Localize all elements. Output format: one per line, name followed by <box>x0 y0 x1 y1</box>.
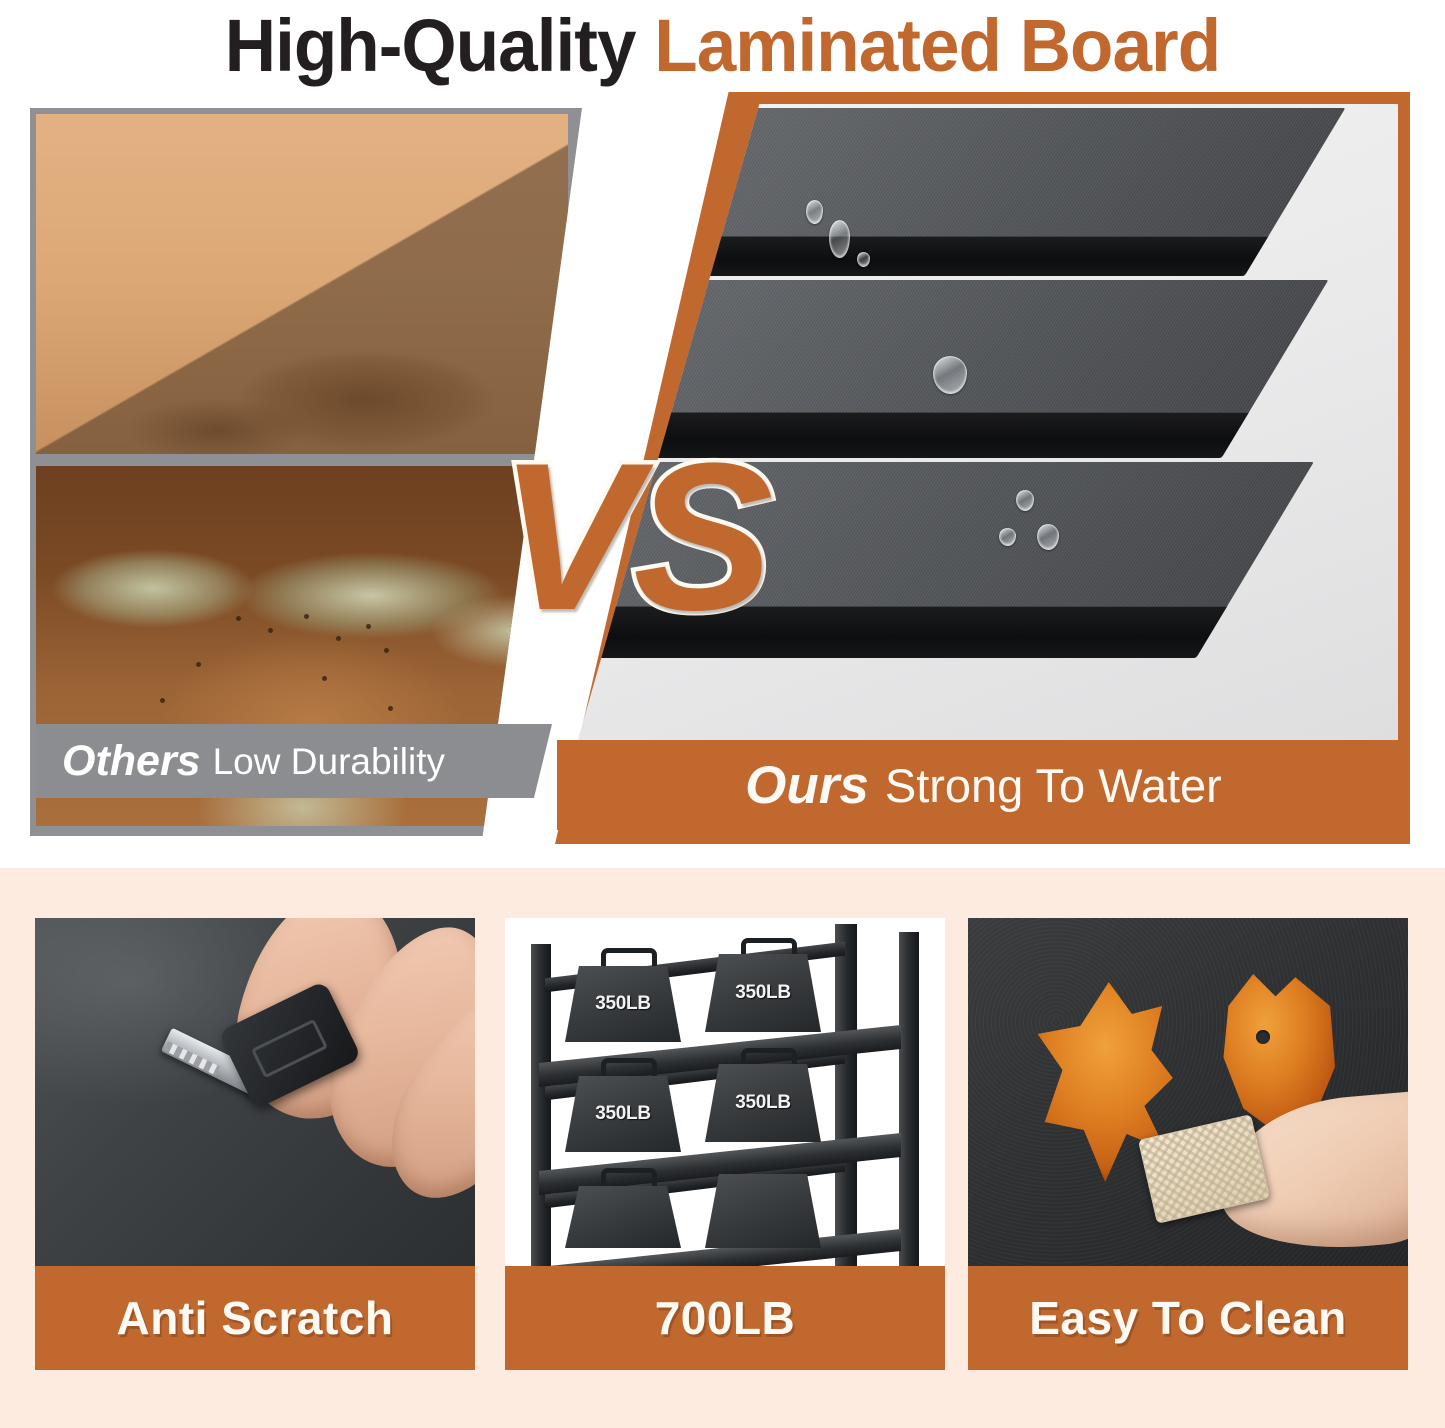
weight-block: 350LB <box>705 1064 821 1142</box>
feature-card-capacity: 350LB 350LB 350LB 350LB 700LB <box>505 918 945 1370</box>
rack-post <box>835 924 857 1266</box>
feature-photo-easy-clean <box>968 918 1408 1266</box>
rack-post <box>531 944 551 1266</box>
feature-label-anti-scratch: Anti Scratch <box>35 1266 475 1370</box>
feature-label-text: Anti Scratch <box>117 1295 394 1341</box>
feature-label-text: Easy To Clean <box>1029 1295 1347 1341</box>
weight-label: 350LB <box>735 1092 791 1114</box>
board-edge <box>575 236 1269 276</box>
page-title: High-Quality Laminated Board <box>225 9 1220 83</box>
feature-photo-anti-scratch <box>35 918 475 1266</box>
spill-hole <box>1256 1030 1270 1044</box>
others-subtitle: Low Durability <box>213 743 445 780</box>
weight-label: 350LB <box>595 1103 651 1125</box>
weight-block <box>705 1174 821 1248</box>
laminated-board-bottom <box>575 462 1314 658</box>
weight-block: 350LB <box>565 966 681 1042</box>
page-title-primary: High-Quality <box>225 4 636 87</box>
weight-label: 350LB <box>595 993 651 1015</box>
page-title-accent: Laminated Board <box>654 4 1220 87</box>
board-edge <box>575 606 1227 658</box>
weight-label: 350LB <box>735 982 791 1004</box>
weight-block: 350LB <box>705 954 821 1032</box>
ours-subtitle: Strong To Water <box>885 762 1222 809</box>
feature-label-easy-clean: Easy To Clean <box>968 1266 1408 1370</box>
weight-block: 350LB <box>565 1076 681 1152</box>
ours-photo-laminated-boards <box>575 104 1398 750</box>
weight-block <box>565 1186 681 1248</box>
feature-label-text: 700LB <box>655 1295 796 1341</box>
feature-photo-shelving-rack: 350LB 350LB 350LB 350LB <box>505 918 945 1266</box>
rack-post <box>899 932 919 1266</box>
others-title: Others <box>62 740 201 783</box>
feature-card-anti-scratch: Anti Scratch <box>35 918 475 1370</box>
others-photo-coffee-spill <box>36 114 568 454</box>
ours-caption: Ours Strong To Water <box>557 740 1410 830</box>
others-caption: Others Low Durability <box>36 724 552 798</box>
laminated-board-top <box>575 108 1345 276</box>
feature-label-capacity: 700LB <box>505 1266 945 1370</box>
page-header: High-Quality Laminated Board <box>0 0 1445 92</box>
board-edge <box>575 412 1249 458</box>
ours-title: Ours <box>745 759 869 812</box>
features-section: Anti Scratch 350LB 350LB 350LB <box>0 868 1445 1428</box>
comparison-section: Others Low Durability Ours Strong To Wat… <box>0 92 1445 852</box>
feature-card-easy-clean: Easy To Clean <box>968 918 1408 1370</box>
